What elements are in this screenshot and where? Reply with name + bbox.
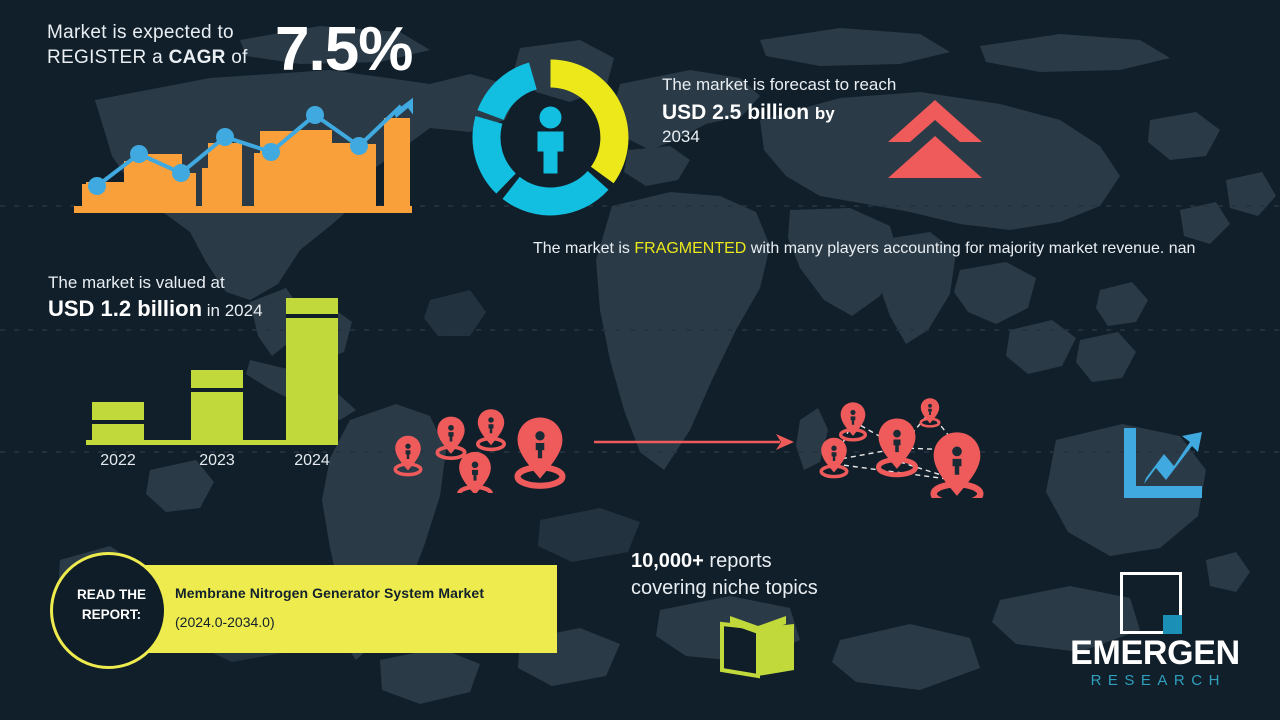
person-icon [538,107,564,174]
cagr-keyword: CAGR [169,47,226,68]
zigzag-arrow-shape [1144,432,1202,484]
arrow-right-icon [594,432,794,452]
report-bar-text: Membrane Nitrogen Generator System Marke… [175,585,484,630]
reports-count: 10,000+ [631,550,704,572]
map-pin [395,436,421,475]
bar-2 [124,161,154,206]
forecast-value: USD 2.5 billion [662,101,809,124]
map-pin [821,438,847,477]
trend-dot [88,177,106,195]
doughnut-slice-cyan-3 [478,63,537,120]
bar-4 [208,143,242,206]
report-title: Membrane Nitrogen Generator System Marke… [175,585,484,601]
xtick-2022: 2022 [100,452,136,469]
fragmented-statement: The market is FRAGMENTED with many playe… [533,238,1213,261]
cagr-value: 7.5% [275,14,412,85]
forecast-lead-text: The market is forecast to reach [662,74,902,96]
doughnut-slice-yellow [551,60,629,184]
read-report-circle[interactable]: READ THE REPORT: [50,552,167,669]
forecast-value-line: USD 2.5 billion by [662,100,902,126]
cagr-lead-line2-pre: REGISTER a [47,47,169,68]
chevron-up-bottom [888,136,982,178]
bar-2023 [191,370,243,440]
market-share-doughnut [468,55,633,220]
double-chevron-up-icon [886,98,984,180]
valuation-bars [92,298,338,440]
chevron-up-top [888,100,982,142]
doughnut-slice-cyan-1 [503,171,609,215]
bar-2024 [286,298,338,440]
forecast-year: 2034 [662,126,902,148]
trend-arrow-icon [394,94,413,118]
map-pin [921,398,939,426]
report-range: (2024.0-2034.0) [175,614,484,630]
reports-line2: covering niche topics [631,577,818,599]
read-report-bar[interactable]: Membrane Nitrogen Generator System Marke… [137,565,557,653]
logo-corner-accent [1163,615,1182,634]
xtick-2024: 2024 [294,452,330,469]
trend-dot [350,137,368,155]
valuation-lead-text: The market is valued at [48,273,468,293]
forecast-value-suffix: by [815,104,835,123]
map-pin [841,402,866,440]
reports-count-block: 10,000+ reportscovering niche topics [631,548,891,602]
map-pin [437,417,464,459]
reports-line1-rest: reports [704,550,772,572]
map-pin [879,418,916,474]
frag-pre: The market is [533,240,634,257]
map-pin-cluster-left [385,388,585,493]
map-pin [934,432,981,498]
infographic-canvas: Market is expected toREGISTER a CAGR of … [0,0,1280,720]
open-book-icon [718,614,798,680]
frag-post: with many players accounting for majorit… [746,240,1195,257]
trend-dot [306,106,324,124]
forecast-block: The market is forecast to reach USD 2.5 … [662,74,902,148]
growth-bar-chart [68,88,413,220]
bar-6 [298,130,332,206]
map-pin [518,417,563,485]
bar-2022-divider [92,420,144,424]
trend-dot [130,145,148,163]
trend-dot [262,143,280,161]
trend-dot [172,164,190,182]
valuation-baseline [86,440,338,445]
map-pin-network-right [805,388,1010,498]
cagr-lead-line1: Market is expected to [47,22,234,43]
cagr-lead-line2-post: of [226,47,248,68]
chart-baseline [74,206,412,213]
xtick-2023: 2023 [199,452,235,469]
map-pin [459,452,491,493]
cagr-lead-text: Market is expected toREGISTER a CAGR of [47,20,248,70]
trend-dot [216,128,234,146]
bar-2023-divider [191,388,243,392]
logo-subtitle: RESEARCH [1055,672,1255,689]
emergen-research-logo: EMERGEN RESEARCH [1055,572,1255,702]
growth-arrow-icon [1122,428,1204,500]
bar-2024-divider [286,314,338,318]
logo-name: EMERGEN [1055,634,1255,673]
valuation-bar-chart: 2022 2023 2024 [78,295,338,470]
frag-highlight: FRAGMENTED [634,240,746,257]
read-report-label: READ THE REPORT: [53,585,170,624]
bar-8 [384,118,410,206]
map-pin [478,409,504,449]
doughnut-slice-cyan-2 [472,116,515,194]
